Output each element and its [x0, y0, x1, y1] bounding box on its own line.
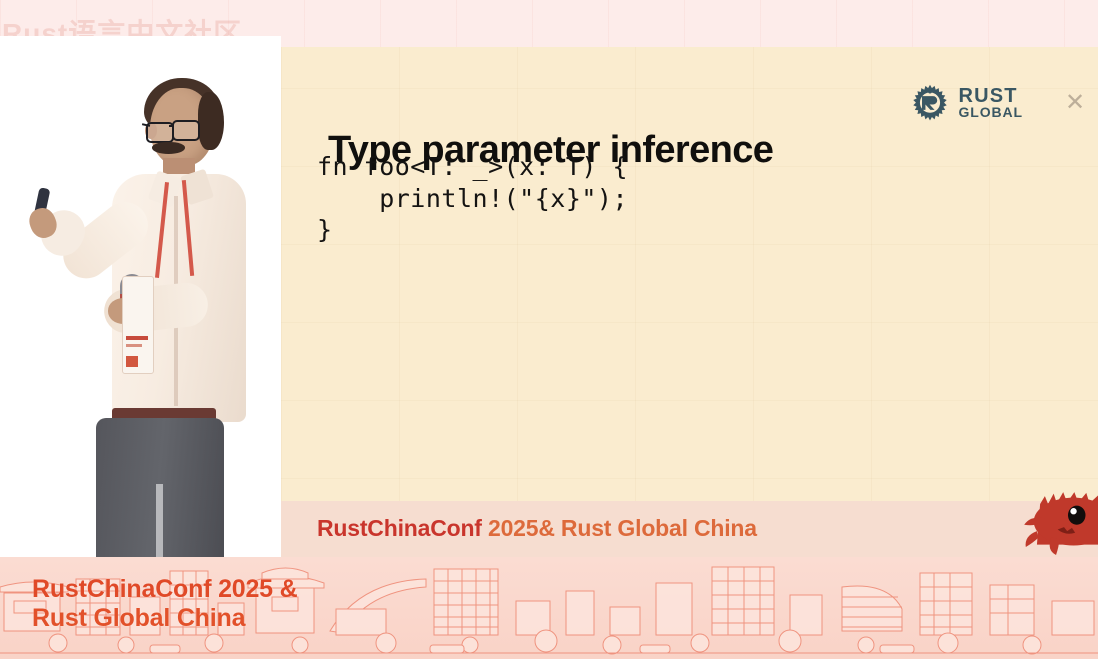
trouser-leg-gap [156, 484, 163, 557]
conference-bottom-banner: RustChinaConf 2025 & Rust Global China [0, 557, 1098, 659]
ferris-crab-icon [1016, 469, 1098, 555]
logo-line-rust: RUST [958, 87, 1023, 105]
rust-global-logo: RUST GLOBAL [911, 84, 1023, 122]
speaker-video-panel[interactable] [0, 36, 281, 557]
speaker-mustache [152, 142, 185, 154]
logo-line-global: GLOBAL [958, 106, 1023, 119]
speaker-hair-side [198, 92, 224, 150]
slide-footer-band: RustChinaConf 2025& Rust Global China [281, 501, 1098, 557]
slide-footer-secondary: 2025& Rust Global China [482, 515, 757, 541]
presentation-slide[interactable]: Type parameter inference fn foo<T: _>(x:… [281, 47, 1098, 557]
conference-banner-title: RustChinaConf 2025 & Rust Global China [32, 575, 297, 633]
slide-code-block: fn foo<T: _>(x: T) { println!("{x}"); } [317, 151, 628, 246]
glasses-right-lens [172, 120, 200, 141]
glasses-temple-arm [142, 123, 150, 127]
rust-global-wordmark: RUST GLOBAL [958, 87, 1023, 118]
banner-line-1: RustChinaConf 2025 & [32, 575, 297, 604]
badge-logo-mark [126, 356, 138, 367]
badge-line-2 [126, 344, 142, 347]
glasses-bridge [169, 125, 174, 127]
badge-line-1 [126, 336, 148, 340]
slide-footer-primary: RustChinaConf [317, 515, 482, 541]
close-icon[interactable]: ✕ [1060, 88, 1090, 118]
slide-footer-text: RustChinaConf 2025& Rust Global China [317, 515, 757, 542]
banner-line-2: Rust Global China [32, 604, 297, 633]
rust-gear-icon [911, 84, 949, 122]
